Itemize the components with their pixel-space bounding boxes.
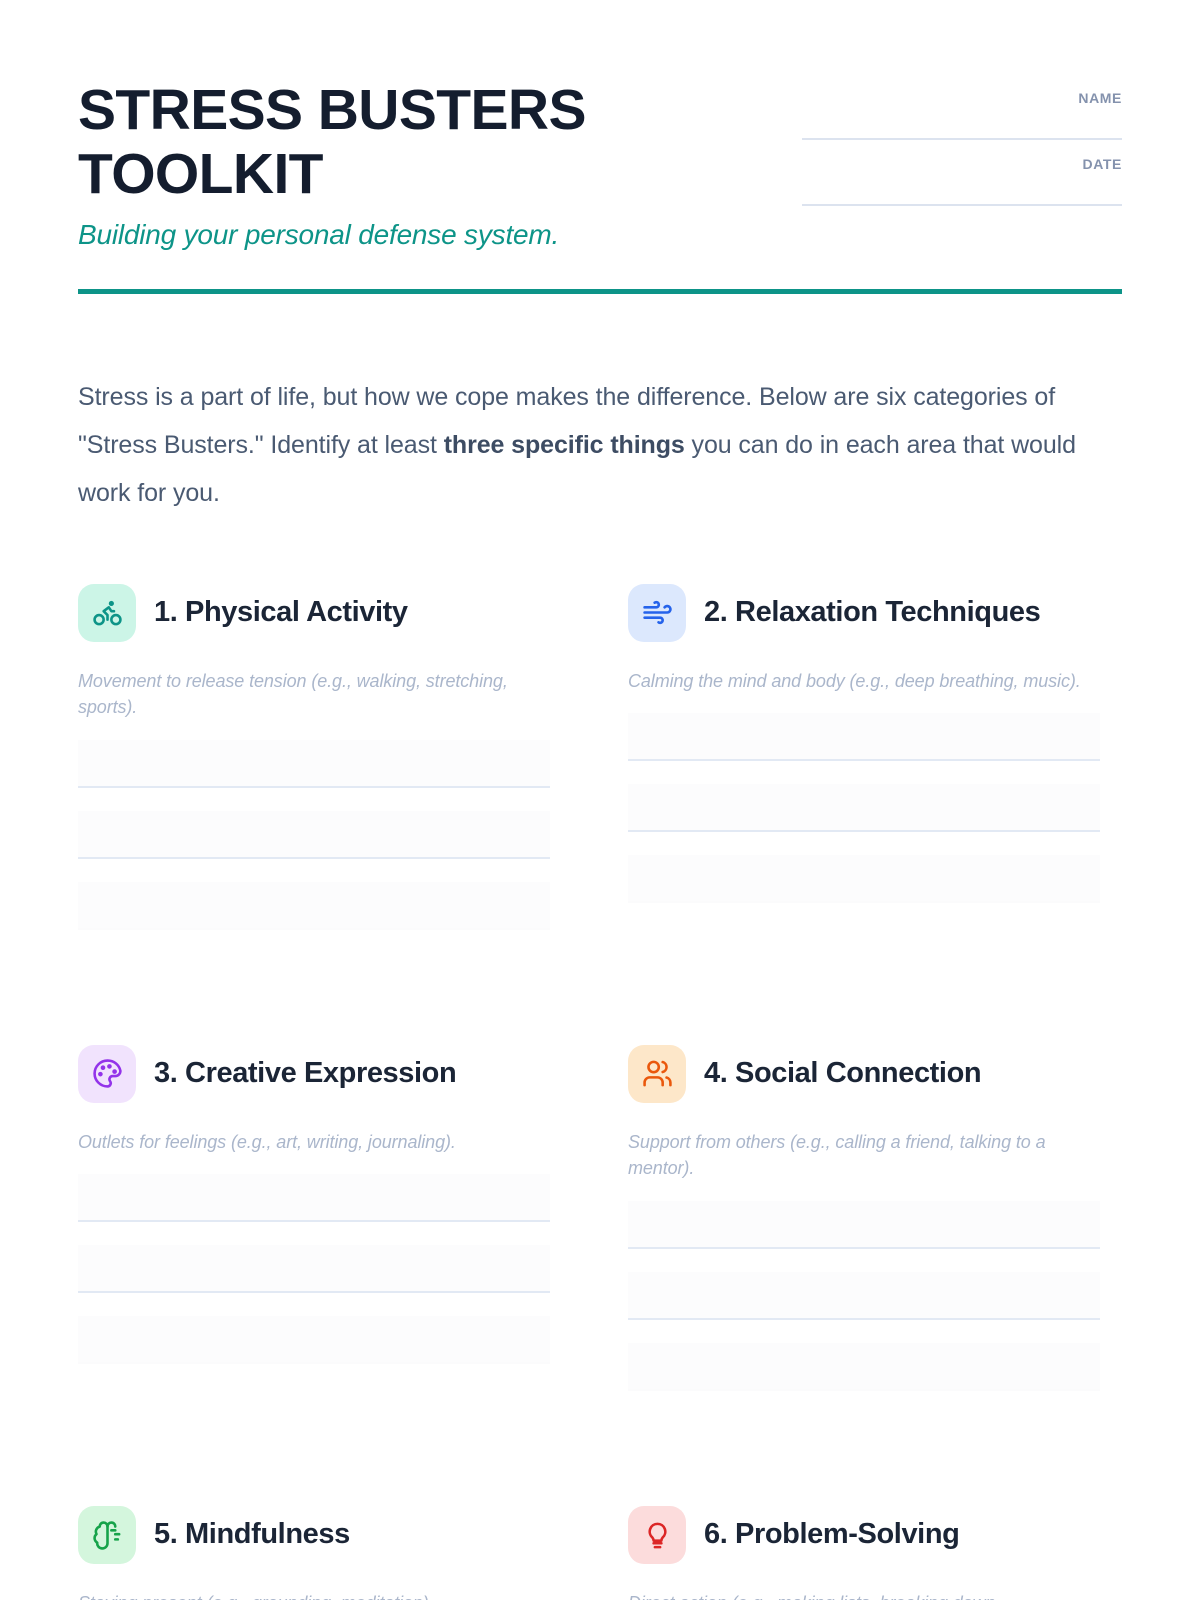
answer-lines (628, 713, 1100, 903)
write-line[interactable] (628, 1272, 1100, 1320)
answer-lines (78, 1174, 550, 1364)
date-input[interactable] (802, 204, 1122, 206)
palette-icon (78, 1045, 136, 1103)
header-divider (78, 289, 1122, 294)
page-subtitle: Building your personal defense system. (78, 219, 718, 251)
write-line[interactable] (78, 1245, 550, 1293)
date-label: DATE (802, 156, 1122, 172)
worksheet-page: STRESS BUSTERS TOOLKIT Building your per… (0, 0, 1200, 1600)
intro-paragraph: Stress is a part of life, but how we cop… (78, 373, 1088, 518)
section-header: 4. Social Connection (628, 1045, 1100, 1103)
section-header: 3. Creative Expression (78, 1045, 550, 1103)
sections-grid: 1. Physical ActivityMovement to release … (78, 584, 1122, 1600)
write-line[interactable] (78, 740, 550, 788)
section-title: 4. Social Connection (704, 1055, 981, 1093)
section-2: 2. Relaxation TechniquesCalming the mind… (628, 584, 1100, 953)
section-title: 1. Physical Activity (154, 594, 408, 632)
answer-lines (78, 740, 550, 930)
section-description: Outlets for feelings (e.g., art, writing… (78, 1129, 550, 1156)
write-line[interactable] (628, 784, 1100, 832)
write-line[interactable] (78, 882, 550, 930)
lightbulb-icon (628, 1506, 686, 1564)
section-title: 3. Creative Expression (154, 1055, 456, 1093)
write-line[interactable] (628, 1343, 1100, 1391)
section-1: 1. Physical ActivityMovement to release … (78, 584, 550, 953)
brain-icon (78, 1506, 136, 1564)
bicycle-icon (78, 584, 136, 642)
write-line[interactable] (628, 855, 1100, 903)
write-line[interactable] (78, 811, 550, 859)
section-description: Calming the mind and body (e.g., deep br… (628, 668, 1100, 695)
section-header: 5. Mindfulness (78, 1506, 550, 1564)
section-title: 2. Relaxation Techniques (704, 594, 1040, 632)
users-icon (628, 1045, 686, 1103)
section-description: Support from others (e.g., calling a fri… (628, 1129, 1100, 1182)
section-description: Movement to release tension (e.g., walki… (78, 668, 550, 721)
intro-emphasis: three specific things (444, 431, 685, 459)
section-header: 1. Physical Activity (78, 584, 550, 642)
page-header: STRESS BUSTERS TOOLKIT Building your per… (78, 0, 1122, 251)
section-4: 4. Social ConnectionSupport from others … (628, 1045, 1100, 1414)
section-header: 2. Relaxation Techniques (628, 584, 1100, 642)
answer-lines (628, 1201, 1100, 1391)
section-3: 3. Creative ExpressionOutlets for feelin… (78, 1045, 550, 1414)
header-fields: NAME DATE (802, 78, 1122, 222)
wind-icon (628, 584, 686, 642)
name-field-block: NAME (802, 90, 1122, 140)
name-label: NAME (802, 90, 1122, 106)
page-title: STRESS BUSTERS TOOLKIT (78, 78, 718, 207)
write-line[interactable] (628, 1201, 1100, 1249)
section-description: Direct action (e.g., making lists, break… (628, 1590, 1100, 1600)
write-line[interactable] (628, 713, 1100, 761)
section-title: 5. Mindfulness (154, 1516, 350, 1554)
section-title: 6. Problem-Solving (704, 1516, 959, 1554)
write-line[interactable] (78, 1174, 550, 1222)
section-header: 6. Problem-Solving (628, 1506, 1100, 1564)
section-5: 5. MindfulnessStaying present (e.g., gro… (78, 1506, 550, 1600)
date-field-block: DATE (802, 156, 1122, 206)
header-title-block: STRESS BUSTERS TOOLKIT Building your per… (78, 78, 718, 251)
section-6: 6. Problem-SolvingDirect action (e.g., m… (628, 1506, 1100, 1600)
section-description: Staying present (e.g., grounding, medita… (78, 1590, 550, 1600)
name-input[interactable] (802, 138, 1122, 140)
write-line[interactable] (78, 1316, 550, 1364)
